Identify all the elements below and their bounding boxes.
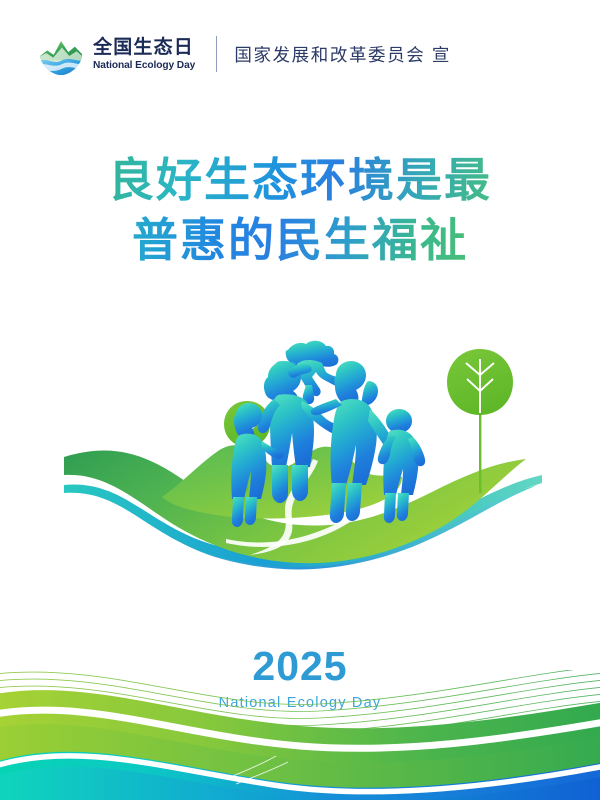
ecology-day-mountain-water-logo-icon <box>38 31 84 77</box>
bottom-wave-decoration <box>0 670 600 800</box>
poster-header: 全国生态日 National Ecology Day 国家发展和改革委员会 宣 <box>38 30 451 78</box>
brand-lockup: 全国生态日 National Ecology Day <box>93 38 198 71</box>
header-divider <box>216 36 217 72</box>
poster-canvas: 全国生态日 National Ecology Day 国家发展和改革委员会 宣 … <box>0 0 600 800</box>
headline-line-2: 普惠的民生福祉 <box>0 210 600 270</box>
organization-label: 国家发展和改革委员会 宣 <box>234 42 451 67</box>
brand-name-en: National Ecology Day <box>93 60 195 71</box>
page-title: 良好生态环境是最 普惠的民生福祉 <box>0 150 600 270</box>
family-on-green-leaf-hill-illustration <box>50 325 550 575</box>
brand-name-cn: 全国生态日 <box>93 38 198 57</box>
headline-line-1: 良好生态环境是最 <box>0 150 600 210</box>
